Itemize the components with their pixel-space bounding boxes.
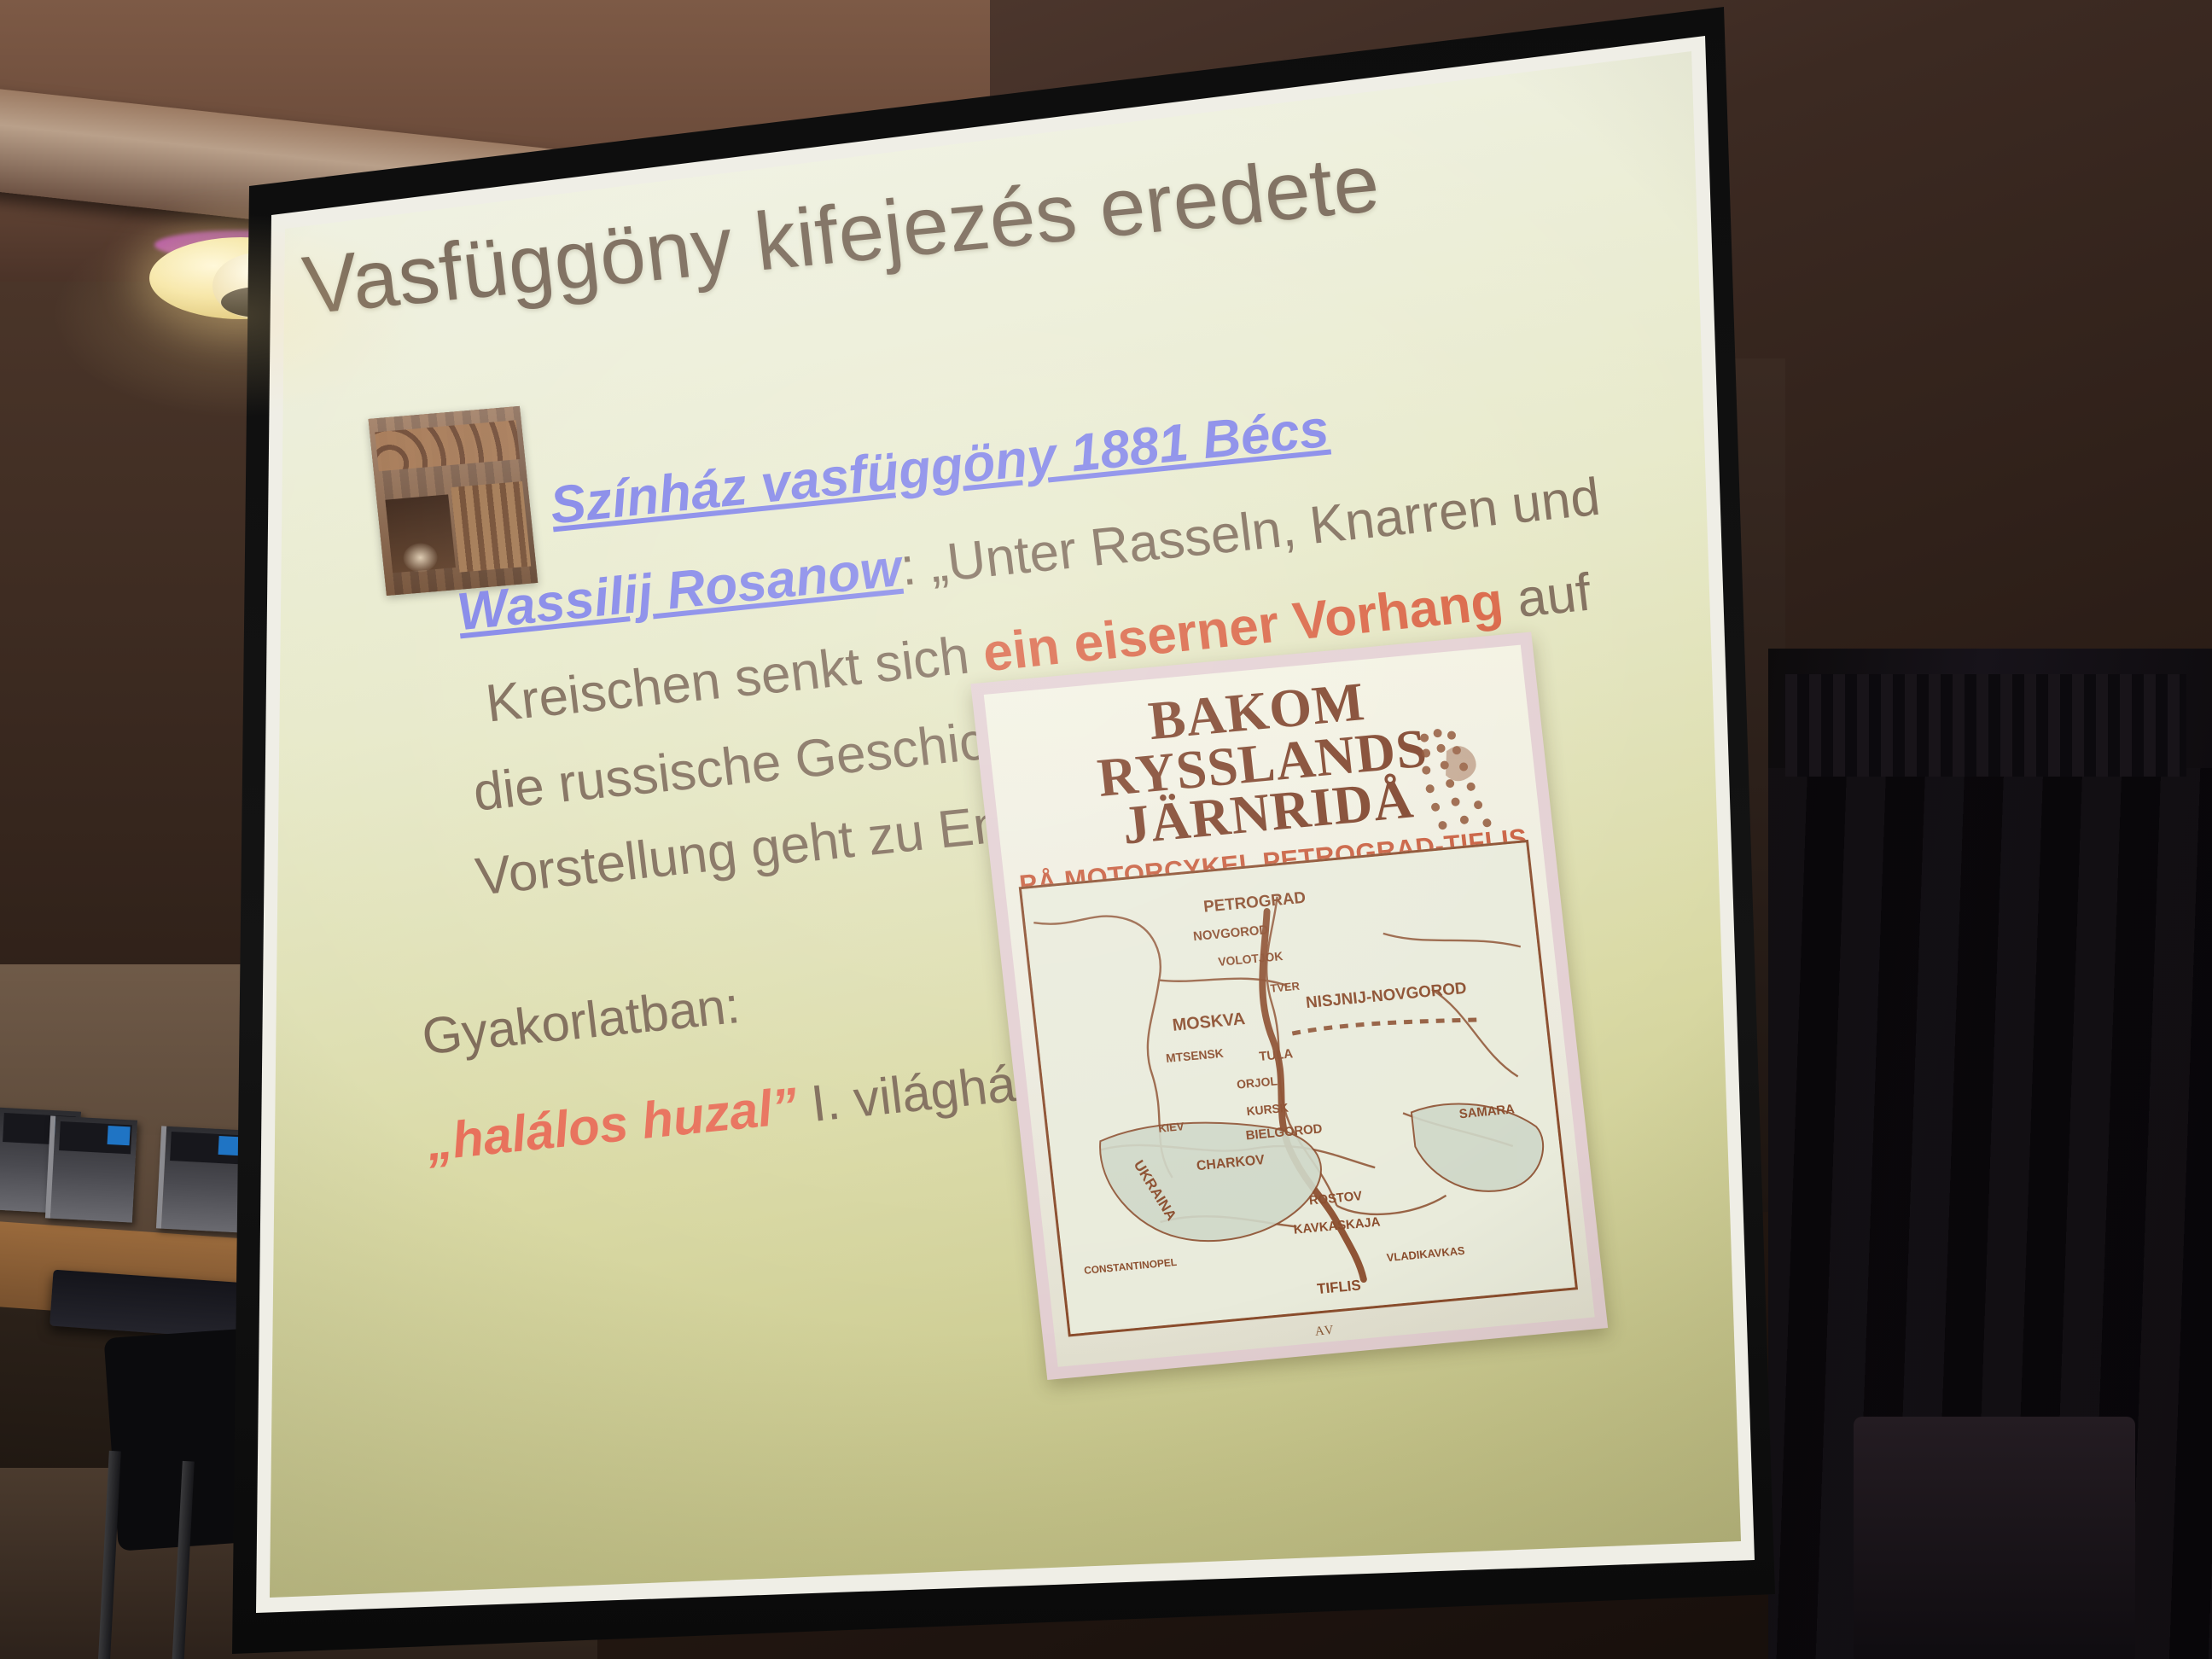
quote-post: auf xyxy=(1499,563,1594,631)
curtain-valance xyxy=(1785,674,2186,777)
svg-text:KIEV: KIEV xyxy=(1158,1120,1185,1135)
theatre-balcony xyxy=(451,481,531,573)
svg-text:TULA: TULA xyxy=(1259,1046,1294,1064)
poster-image: BAKOM RYSSLANDS JÄRNRIDÅ PÅ MOTORCYKEL P… xyxy=(970,632,1608,1380)
practice-quote: „halálos huzal” xyxy=(423,1077,800,1172)
quote-pre: Kreischen senkt sich xyxy=(483,625,987,734)
leaflet-stand xyxy=(156,1126,248,1232)
photo-scene: Vasfüggöny kifejezés eredete Színház vas… xyxy=(0,0,2212,1659)
theatre-arches xyxy=(375,420,520,471)
slide-practice-label: Gyakorlatban: xyxy=(419,975,743,1066)
theatre-thumbnail-image xyxy=(369,406,538,596)
leaflet-stand xyxy=(45,1115,137,1222)
leaflet-tag xyxy=(108,1126,131,1145)
poster-route-map: PETROGRAD NOVGOROD VOLOTJOK TVER NISJNIJ… xyxy=(1019,840,1578,1337)
svg-text:TVER: TVER xyxy=(1270,980,1301,995)
presentation-slide: Vasfüggöny kifejezés eredete Színház vas… xyxy=(271,119,1837,1594)
motorcyclist-icon xyxy=(1397,712,1513,848)
poster-paper: BAKOM RYSSLANDS JÄRNRIDÅ PÅ MOTORCYKEL P… xyxy=(984,645,1595,1367)
leaflet-tag xyxy=(218,1136,242,1155)
chair-right xyxy=(1854,1417,2135,1659)
